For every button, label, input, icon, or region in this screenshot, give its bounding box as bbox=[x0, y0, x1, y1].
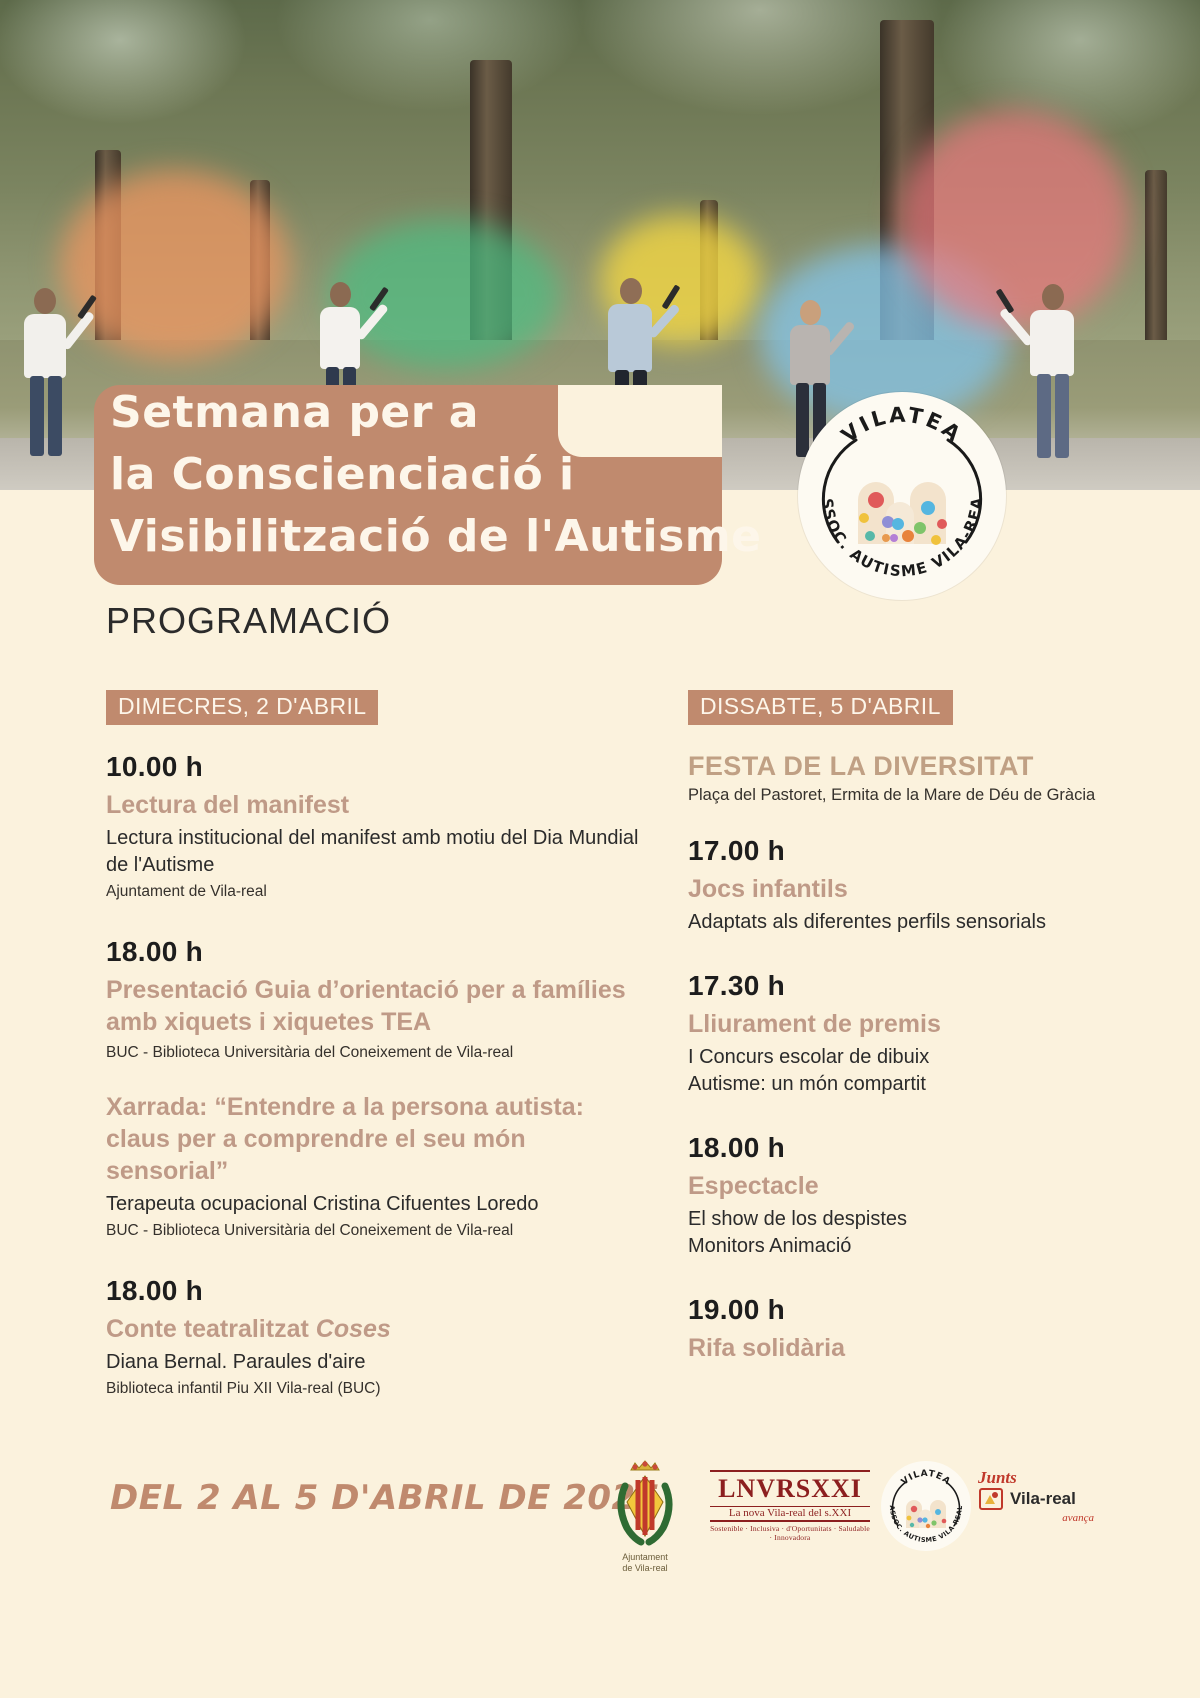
event-time: 18.00 h bbox=[106, 1275, 651, 1307]
lnvrsxxi-subtagline: Sostenible · Inclusiva · d'Oportunitats … bbox=[710, 1524, 870, 1542]
event-title: Lectura del manifest bbox=[106, 789, 651, 821]
event-venue: BUC - Biblioteca Universitària del Conei… bbox=[106, 1042, 651, 1063]
event-venue: Ajuntament de Vila-real bbox=[106, 881, 651, 902]
event-description: Diana Bernal. Paraules d'aire bbox=[106, 1349, 651, 1376]
vila-real-wordmark: Vila-real bbox=[1010, 1489, 1076, 1509]
event-item: 18.00 h Conte teatralitzat Coses Diana B… bbox=[106, 1275, 651, 1399]
event-description: Lectura institucional del manifest amb m… bbox=[106, 825, 651, 879]
orange-smoke bbox=[60, 170, 290, 360]
event-title: Presentació Guia d’orientació per a famí… bbox=[106, 974, 651, 1038]
ajuntament-crest-icon bbox=[605, 1456, 685, 1552]
day-label-saturday: DISSABTE, 5 D'ABRIL bbox=[688, 690, 953, 725]
event-item: Xarrada: “Entendre a la persona autista:… bbox=[106, 1091, 651, 1241]
event-title: Jocs infantils bbox=[688, 873, 1108, 905]
event-item: 18.00 h Espectacle El show de los despis… bbox=[688, 1132, 1108, 1260]
event-item: 18.00 h Presentació Guia d’orientació pe… bbox=[106, 936, 651, 1063]
event-time: 19.00 h bbox=[688, 1294, 1108, 1326]
event-item: 17.30 h Lliurament de premis I Concurs e… bbox=[688, 970, 1108, 1098]
event-description: Adaptats als diferentes perfils sensoria… bbox=[688, 909, 1108, 936]
event-title: Rifa solidària bbox=[688, 1332, 1108, 1364]
event-venue: BUC - Biblioteca Universitària del Conei… bbox=[106, 1220, 651, 1241]
footer-dates: DEL 2 AL 5 D'ABRIL DE 2025 bbox=[110, 1478, 660, 1518]
event-venue: Biblioteca infantil Piu XII Vila-real (B… bbox=[106, 1378, 651, 1399]
event-title-italic: Coses bbox=[316, 1315, 391, 1343]
junts-wordmark: Junts bbox=[978, 1468, 1128, 1488]
event-title: Espectacle bbox=[688, 1170, 1108, 1202]
event-description-italic: El show de los despistes bbox=[688, 1206, 1108, 1233]
lnvrsxxi-tagline: La nova Vila-real del s.XXI bbox=[710, 1507, 870, 1522]
junts-mark-icon bbox=[978, 1486, 1004, 1512]
vilatea-small-icon: VILATEA ASSOC. AUTISME VILA-REAL bbox=[880, 1460, 972, 1552]
festa-title: FESTA DE LA DIVERSITAT bbox=[688, 751, 1108, 782]
vilatea-logo-icon: VILATEA ASSOC. AUTISME VILA-REAL bbox=[798, 392, 1006, 600]
event-item: 10.00 h Lectura del manifest Lectura ins… bbox=[106, 751, 651, 902]
logo-junts-vila-real: Junts Vila-real avança bbox=[978, 1468, 1128, 1524]
event-item: 17.00 h Jocs infantils Adaptats als dife… bbox=[688, 835, 1108, 936]
event-time: 10.00 h bbox=[106, 751, 651, 783]
lnvrsxxi-wordmark: LNVRSXXI bbox=[710, 1474, 870, 1504]
program-heading: PROGRAMACIÓ bbox=[106, 600, 391, 642]
vilatea-logo-badge: VILATEA ASSOC. AUTISME VILA-REAL bbox=[798, 392, 1006, 600]
pink-smoke bbox=[900, 110, 1130, 330]
title-line-1: Setmana per a bbox=[110, 382, 730, 444]
logo-caption: Ajuntamentde Vila-real bbox=[590, 1552, 700, 1574]
event-time: 17.30 h bbox=[688, 970, 1108, 1002]
event-description: Monitors Animació bbox=[688, 1233, 1108, 1260]
day-label-wednesday: DIMECRES, 2 D'ABRIL bbox=[106, 690, 378, 725]
person-with-flare bbox=[12, 288, 82, 468]
program-column-wednesday: DIMECRES, 2 D'ABRIL 10.00 h Lectura del … bbox=[106, 690, 651, 1433]
event-time: 18.00 h bbox=[106, 936, 651, 968]
person-with-flare bbox=[1018, 284, 1086, 474]
logo-lnvrsxxi: LNVRSXXI La nova Vila-real del s.XXI Sos… bbox=[710, 1470, 870, 1542]
avanca-wordmark: avança bbox=[978, 1512, 1094, 1524]
event-title: Lliurament de premis bbox=[688, 1008, 1108, 1040]
event-title: Xarrada: “Entendre a la persona autista:… bbox=[106, 1091, 651, 1187]
logo-ajuntament-vila-real: Ajuntamentde Vila-real bbox=[590, 1456, 700, 1574]
title-line-3: Visibilització de l'Autisme bbox=[110, 506, 730, 568]
footer-logos: Ajuntamentde Vila-real LNVRSXXI La nova … bbox=[580, 1456, 1140, 1596]
event-description: Terapeuta ocupacional Cristina Cifuentes… bbox=[106, 1191, 651, 1218]
event-time: 18.00 h bbox=[688, 1132, 1108, 1164]
event-title: Conte teatralitzat Coses bbox=[106, 1313, 651, 1345]
event-title-plain: Conte teatralitzat bbox=[106, 1315, 316, 1343]
event-time: 17.00 h bbox=[688, 835, 1108, 867]
program-column-saturday: DISSABTE, 5 D'ABRIL FESTA DE LA DIVERSIT… bbox=[688, 690, 1108, 1398]
festa-venue: Plaça del Pastoret, Ermita de la Mare de… bbox=[688, 786, 1108, 805]
event-item: 19.00 h Rifa solidària bbox=[688, 1294, 1108, 1364]
title-line-2: la Conscienciació i bbox=[110, 444, 730, 506]
logo-vilatea: VILATEA ASSOC. AUTISME VILA-REAL bbox=[880, 1460, 972, 1557]
event-description: I Concurs escolar de dibuix Autisme: un … bbox=[688, 1044, 1108, 1098]
page-title: Setmana per a la Conscienciació i Visibi… bbox=[110, 382, 730, 568]
